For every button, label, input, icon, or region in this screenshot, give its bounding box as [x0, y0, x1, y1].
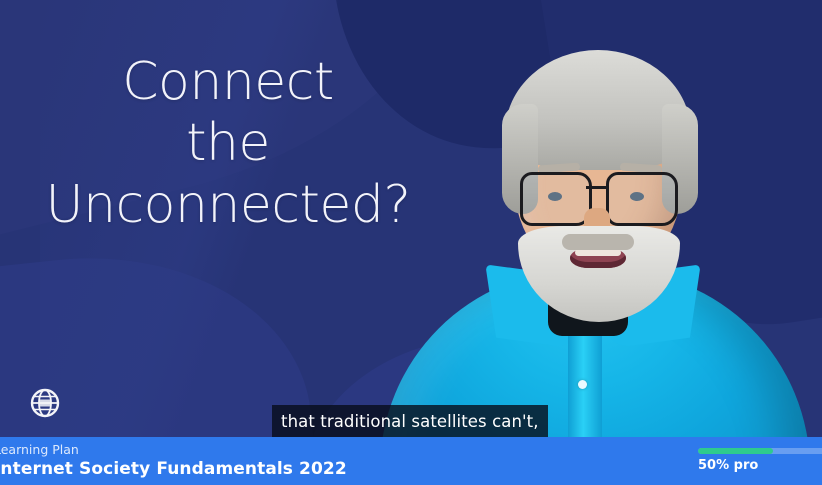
progress-label: 50% pro — [698, 458, 822, 473]
progress-bar-fill — [698, 448, 773, 454]
course-progress: 50% pro — [698, 448, 822, 473]
globe-icon — [28, 386, 62, 420]
course-info: Learning Plan Internet Society Fundament… — [0, 442, 347, 480]
presenter-collar-left — [485, 264, 584, 349]
presenter-shirt-button — [578, 380, 587, 389]
presenter-mustache — [562, 234, 634, 250]
course-player-screen: Connect the Unconnected? — [0, 0, 822, 485]
slide-title-line-2: the — [28, 113, 428, 174]
presenter-hair — [505, 50, 691, 170]
progress-bar-track — [698, 448, 822, 454]
presenter-undershirt — [548, 264, 628, 336]
presenter-mouth — [570, 248, 626, 268]
course-bottom-bar: Learning Plan Internet Society Fundament… — [0, 437, 822, 485]
presenter-shirt-placket — [568, 304, 602, 437]
background-shape-top-right — [531, 0, 822, 353]
slide-title: Connect the Unconnected? — [28, 52, 428, 236]
video-stage[interactable]: Connect the Unconnected? — [0, 0, 822, 437]
presenter-eyebrow-left — [538, 163, 580, 174]
presenter-beard — [518, 226, 680, 322]
presenter-collar-right — [601, 264, 700, 349]
presenter-glasses-lens-right — [606, 172, 678, 226]
presenter-teeth — [575, 249, 621, 256]
presenter-nose — [584, 208, 610, 242]
presenter-eye-left — [548, 192, 562, 201]
presenter-neck — [550, 238, 624, 304]
presenter-glasses — [520, 172, 678, 224]
slide-title-line-1: Connect — [28, 52, 428, 113]
presenter-hair-left — [502, 104, 538, 214]
caption-subtitle: that traditional satellites can't, — [272, 405, 548, 437]
caption-text: that traditional satellites can't, — [281, 412, 539, 431]
presenter-hair-right — [662, 104, 698, 214]
presenter-video-overlay — [372, 42, 822, 437]
learning-plan-label: Learning Plan — [0, 442, 347, 458]
slide-title-line-3: Unconnected? — [28, 175, 428, 236]
presenter-face — [514, 60, 682, 278]
presenter-glasses-bridge — [586, 186, 608, 189]
presenter-eyebrow-right — [620, 163, 662, 174]
presenter-glasses-lens-left — [520, 172, 592, 226]
presenter-eye-right — [630, 192, 644, 201]
course-title: Internet Society Fundamentals 2022 — [0, 458, 347, 480]
